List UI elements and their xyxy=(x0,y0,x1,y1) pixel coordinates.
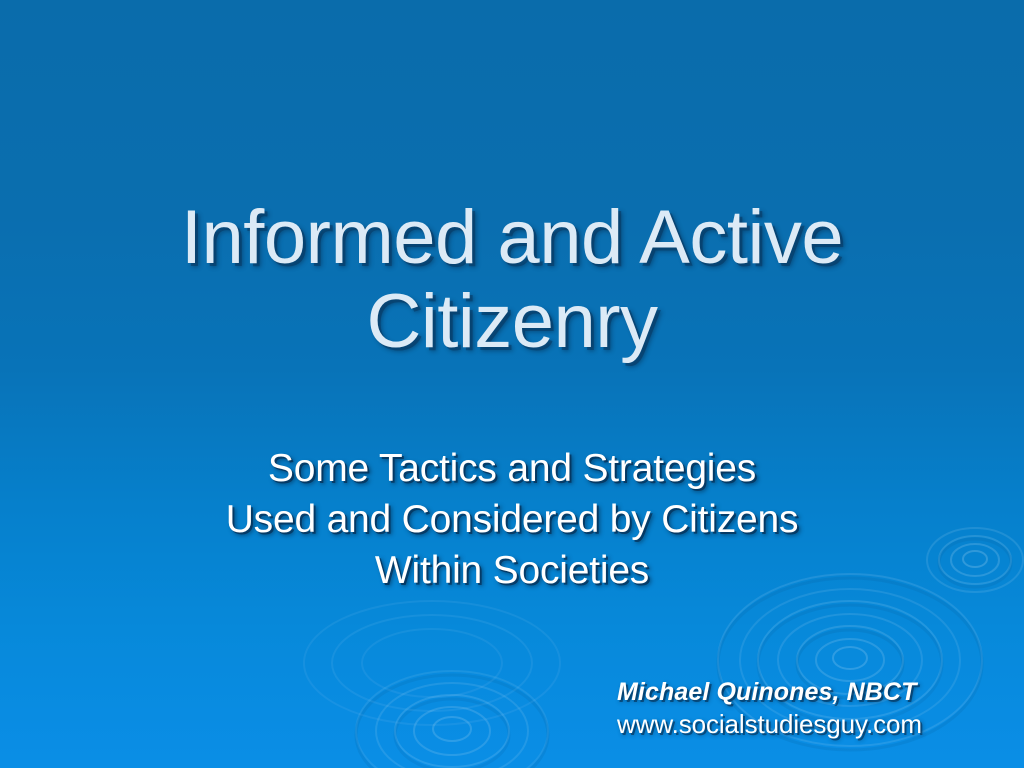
slide-title-line-1: Informed and Active xyxy=(0,196,1024,280)
slide-subtitle-line-1: Some Tactics and Strategies xyxy=(0,443,1024,494)
presentation-title-slide: Informed and Active Citizenry Some Tacti… xyxy=(0,0,1024,768)
slide-title: Informed and Active Citizenry xyxy=(0,196,1024,364)
water-ripple-decoration xyxy=(0,0,1024,768)
slide-subtitle: Some Tactics and Strategies Used and Con… xyxy=(0,443,1024,596)
ripple-medium-center xyxy=(356,671,548,768)
author-credit: Michael Quinones, NBCT www.socialstudies… xyxy=(617,676,997,741)
slide-subtitle-line-3: Within Societies xyxy=(0,545,1024,596)
slide-title-line-2: Citizenry xyxy=(0,280,1024,364)
slide-subtitle-line-2: Used and Considered by Citizens xyxy=(0,494,1024,545)
author-website-url: www.socialstudiesguy.com xyxy=(617,708,997,741)
ripple-faint-left xyxy=(304,601,560,725)
author-name: Michael Quinones, NBCT xyxy=(617,676,997,708)
